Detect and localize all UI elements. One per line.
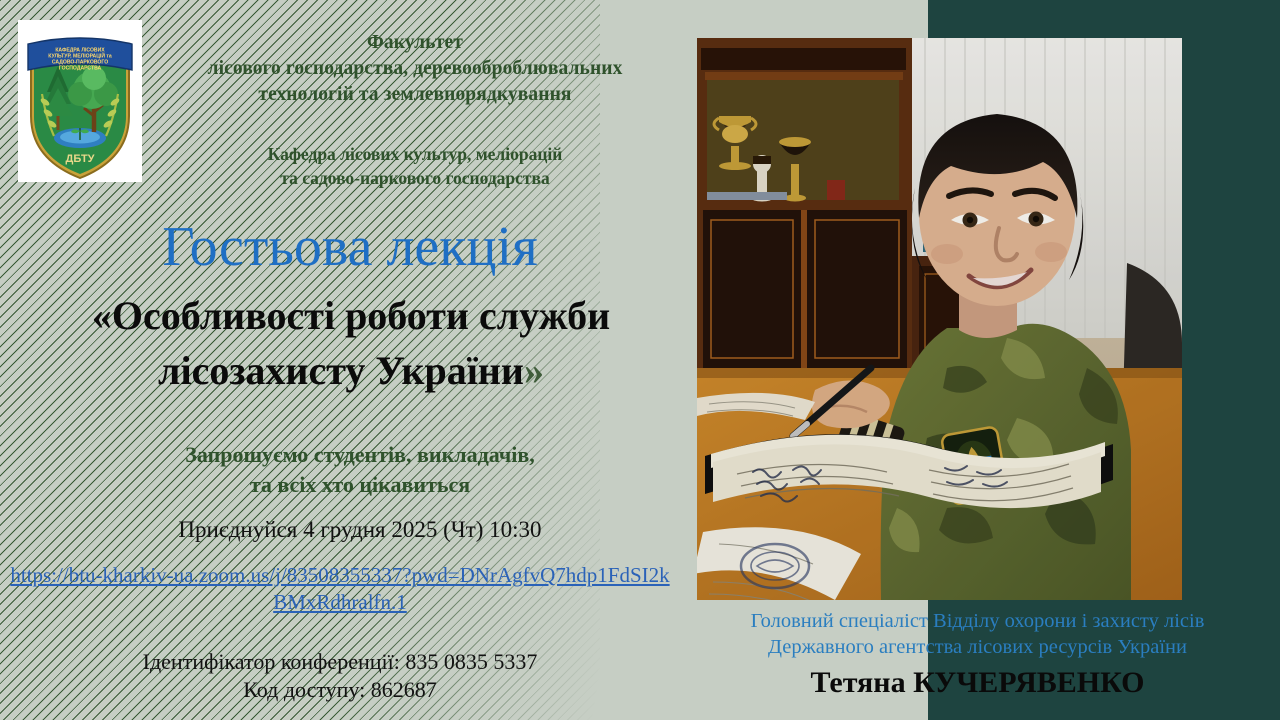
faculty-line-2: лісового господарства, деревооброблюваль… xyxy=(150,56,680,82)
invitation-text: Запрошуємо студентів, викладачів, та всі… xyxy=(60,440,660,500)
speaker-role: Головний спеціаліст Відділу охорони і за… xyxy=(685,608,1270,660)
svg-text:ДБТУ: ДБТУ xyxy=(65,153,94,165)
zoom-meeting-id: Ідентифікатор конференції: 835 0835 5337 xyxy=(40,648,640,676)
svg-text:ГОСПОДАРСТВА: ГОСПОДАРСТВА xyxy=(59,66,102,72)
speaker-photo xyxy=(697,38,1182,600)
zoom-passcode: Код доступу: 862687 xyxy=(40,676,640,704)
department-line-2: та садово-паркового господарства xyxy=(150,166,680,190)
lecture-announcement-poster: ДБТУ КАФЕДРА ЛІСОВИХ КУЛЬТУР, МЕЛІОРАЦІЙ… xyxy=(0,0,1280,720)
department-line-1: Кафедра лісових культур, меліорацій xyxy=(150,142,680,166)
faculty-line-1: Факультет xyxy=(150,30,680,56)
faculty-heading: Факультет лісового господарства, деревоо… xyxy=(150,30,680,108)
faculty-line-3: технологій та землевпорядкування xyxy=(150,82,680,108)
join-datetime: Приєднуйся 4 грудня 2025 (Чт) 10:30 xyxy=(60,515,660,545)
kafedra-emblem: ДБТУ КАФЕДРА ЛІСОВИХ КУЛЬТУР, МЕЛІОРАЦІЙ… xyxy=(18,20,142,182)
department-heading: Кафедра лісових культур, меліорацій та с… xyxy=(150,142,680,190)
lecture-title: «Особливості роботи служби лісозахисту У… xyxy=(18,288,684,398)
lecture-title-line-2: лісозахисту України» xyxy=(18,343,684,398)
lecture-title-text-2: лісозахисту України xyxy=(158,348,524,393)
zoom-meeting-link[interactable]: https://btu-kharkiv-ua.zoom.us/j/8350835… xyxy=(10,562,670,616)
invitation-line-2: та всіх хто цікавиться xyxy=(60,470,660,500)
lecture-kicker: Гостьова лекція xyxy=(20,216,680,278)
speaker-name: Тетяна КУЧЕРЯВЕНКО xyxy=(685,664,1270,702)
speaker-role-line-2: Державного агентства лісових ресурсів Ук… xyxy=(685,634,1270,660)
quote-close: » xyxy=(524,348,544,393)
speaker-role-line-1: Головний спеціаліст Відділу охорони і за… xyxy=(685,608,1270,634)
svg-text:КУЛЬТУР, МЕЛІОРАЦІЙ та: КУЛЬТУР, МЕЛІОРАЦІЙ та xyxy=(48,52,112,60)
invitation-line-1: Запрошуємо студентів, викладачів, xyxy=(60,440,660,470)
lecture-title-line-1: «Особливості роботи служби xyxy=(18,288,684,343)
quote-open: « xyxy=(92,293,112,338)
lecture-title-text-1: Особливості роботи служби xyxy=(112,293,610,338)
